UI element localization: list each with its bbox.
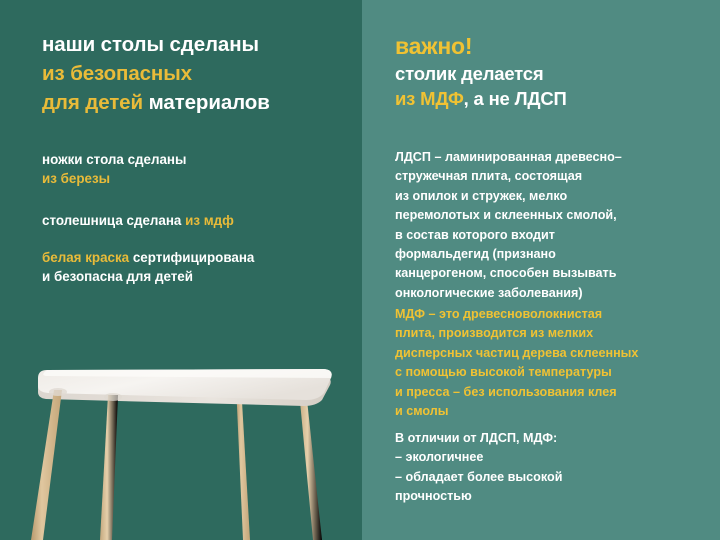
paragraph-ldsp-line: канцерогеном, способен вызывать bbox=[395, 264, 717, 283]
paragraph-mdf: МДФ – это древесноволокнистая плита, про… bbox=[395, 305, 717, 421]
paragraph-ldsp: ЛДСП – ламинированная древесно– стружечн… bbox=[395, 148, 717, 303]
paragraph-ldsp-line: ЛДСП – ламинированная древесно– bbox=[395, 148, 717, 167]
paragraph-ldsp-line: из опилок и стружек, мелко bbox=[395, 187, 717, 206]
paragraph-difference: В отличии от ЛДСП, МДФ: – экологичнее – … bbox=[395, 429, 717, 507]
headline-line-3-white: материалов bbox=[149, 91, 270, 114]
paragraph-ldsp-line: перемолотых и склеенных смолой, bbox=[395, 206, 717, 225]
paragraph-difference-line: В отличии от ЛДСП, МДФ: bbox=[395, 429, 717, 448]
page-title: наши столы сделаны из безопасных для дет… bbox=[42, 30, 342, 117]
paragraph-ldsp-line: формальдегид (признано bbox=[395, 245, 717, 264]
paragraph-ldsp-line: стружечная плита, состоящая bbox=[395, 167, 717, 186]
right-panel: важно! столик делается из МДФ, а не ЛДСП… bbox=[362, 0, 720, 540]
paragraph-mdf-line: и пресса – без использования клея bbox=[395, 383, 717, 402]
paragraph-ldsp-line: в состав которого входит bbox=[395, 226, 717, 245]
bullet-tabletop-text: столешница сделана bbox=[42, 213, 185, 228]
headline-line-1: наши столы сделаны bbox=[42, 30, 342, 59]
right-header-line-2-gold: из МДФ bbox=[395, 88, 464, 109]
headline-line-3: для детей материалов bbox=[42, 88, 342, 117]
bullet-paint-line-1: белая краска сертифицирована bbox=[42, 248, 254, 267]
right-header-block: важно! столик делается из МДФ, а не ЛДСП bbox=[395, 32, 705, 111]
paragraph-difference-line: – обладает более высокой bbox=[395, 468, 717, 487]
paragraph-mdf-line: дисперсных частиц дерева склеенных bbox=[395, 344, 717, 363]
product-photo-table bbox=[0, 340, 362, 540]
important-label: важно! bbox=[395, 32, 705, 61]
paragraph-mdf-line: и смолы bbox=[395, 402, 717, 421]
paragraph-difference-line: – экологичнее bbox=[395, 448, 717, 467]
bullet-tabletop-line-1: столешница сделана из мдф bbox=[42, 211, 234, 230]
bullet-tabletop: столешница сделана из мдф bbox=[42, 211, 234, 230]
paragraph-mdf-line: МДФ – это древесноволокнистая bbox=[395, 305, 717, 324]
left-panel: наши столы сделаны из безопасных для дет… bbox=[0, 0, 362, 540]
bullet-tabletop-highlight: из мдф bbox=[185, 213, 234, 228]
left-headline-block: наши столы сделаны из безопасных для дет… bbox=[42, 30, 342, 117]
paragraph-ldsp-line: онкологические заболевания) bbox=[395, 284, 717, 303]
table-illustration-icon bbox=[0, 340, 362, 540]
bullet-paint-highlight: белая краска bbox=[42, 250, 133, 265]
bullet-paint: белая краска сертифицирована и безопасна… bbox=[42, 248, 254, 286]
right-header-line-1: столик делается bbox=[395, 61, 705, 86]
headline-line-2: из безопасных bbox=[42, 59, 342, 88]
right-header-line-2-white: , а не ЛДСП bbox=[464, 88, 567, 109]
bullet-legs: ножки стола сделаны из березы bbox=[42, 150, 186, 188]
paragraph-mdf-line: с помощью высокой температуры bbox=[395, 363, 717, 382]
paragraph-mdf-line: плита, производится из мелких bbox=[395, 324, 717, 343]
bullet-paint-line-2: и безопасна для детей bbox=[42, 267, 254, 286]
headline-line-3-gold: для детей bbox=[42, 91, 149, 114]
paragraph-difference-line: прочностью bbox=[395, 487, 717, 506]
bullet-legs-line-1: ножки стола сделаны bbox=[42, 150, 186, 169]
right-header-line-2: из МДФ, а не ЛДСП bbox=[395, 86, 705, 111]
bullet-legs-line-2: из березы bbox=[42, 169, 186, 188]
advertisement-card: наши столы сделаны из безопасных для дет… bbox=[0, 0, 720, 540]
bullet-paint-text: сертифицирована bbox=[133, 250, 255, 265]
